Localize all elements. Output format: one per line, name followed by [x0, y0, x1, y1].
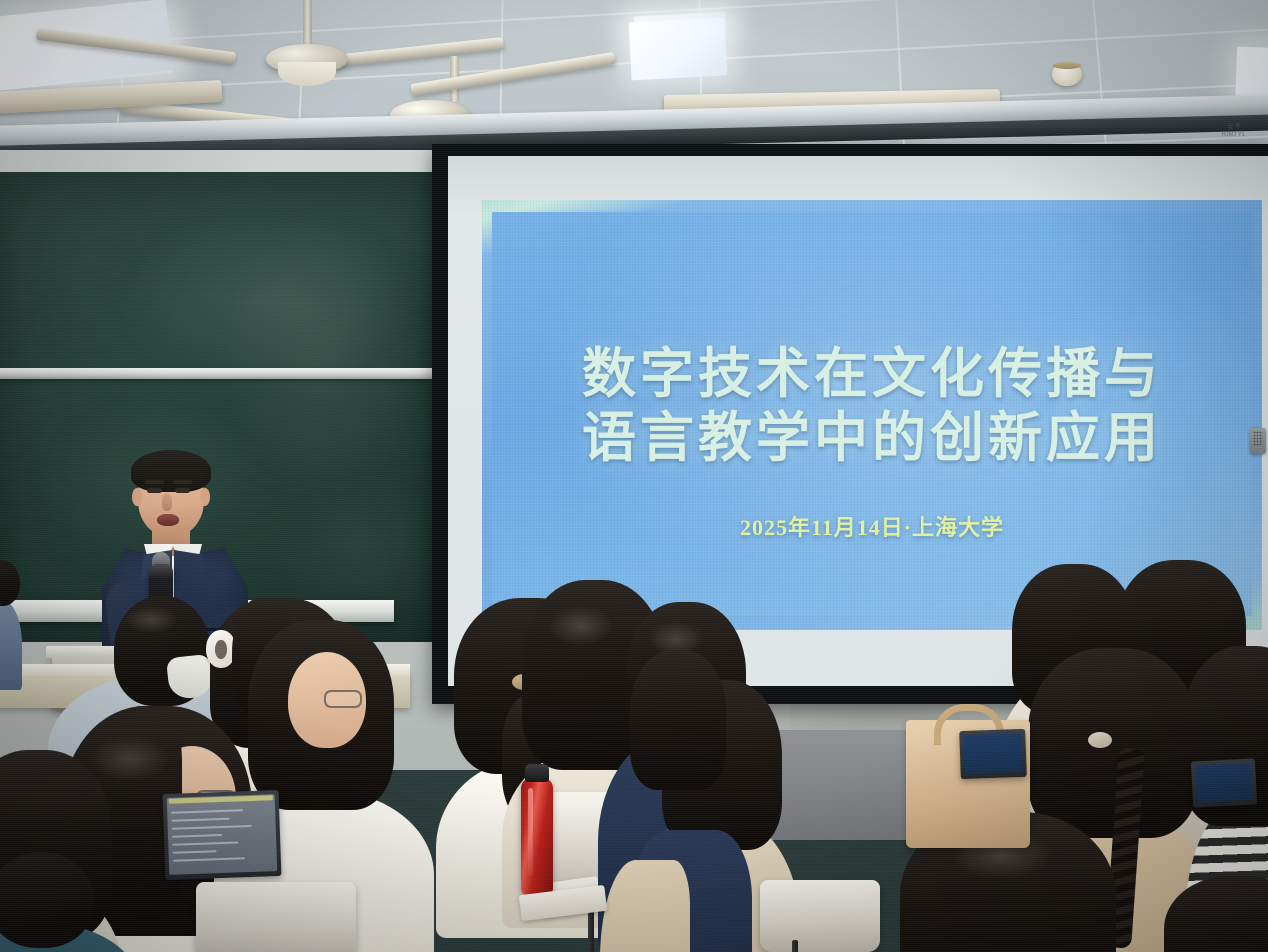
audience: IRON M — [0, 560, 1268, 952]
slide-title-line2: 语言教学中的创新应用 — [482, 406, 1262, 470]
presenter-brow-right — [173, 480, 192, 484]
presenter-ear-left — [132, 488, 142, 506]
chalkboard-divider-rail — [0, 368, 446, 379]
water-bottle-icon — [521, 778, 553, 896]
housing-label-line1: 型 号 — [1228, 124, 1241, 130]
slide-subtitle: 2025年11月14日·上海大学 — [482, 510, 1262, 542]
wall-sensor-icon — [1250, 428, 1266, 454]
audience-hair — [1028, 648, 1198, 838]
presenter-mouth — [157, 514, 179, 526]
slide-title-line1: 数字技术在文化传播与 — [482, 342, 1262, 406]
lecture-chair — [760, 880, 880, 952]
presenter-ear-right — [200, 488, 210, 506]
light-panel-icon — [629, 18, 728, 81]
housing-label-line2: HJMJ Y1 — [1222, 132, 1245, 138]
lecture-chair — [196, 882, 356, 952]
chair-leg — [792, 940, 798, 952]
presenter-eye-left — [147, 488, 162, 493]
smoke-detector-icon — [1052, 62, 1082, 86]
lecture-hall-scene: 型 号 HJMJ Y1 数字技术在文化传播与 语言教学中的创新应用 2025年1… — [0, 0, 1268, 952]
presenter-nose — [162, 494, 172, 511]
laptop-icon — [163, 790, 282, 880]
hair-tie — [1088, 732, 1112, 748]
laptop-icon — [1191, 758, 1257, 807]
presenter-eye-right — [175, 488, 190, 493]
presenter-brow-left — [145, 480, 164, 484]
presenter-hair — [131, 450, 211, 492]
laptop-icon — [959, 729, 1027, 779]
